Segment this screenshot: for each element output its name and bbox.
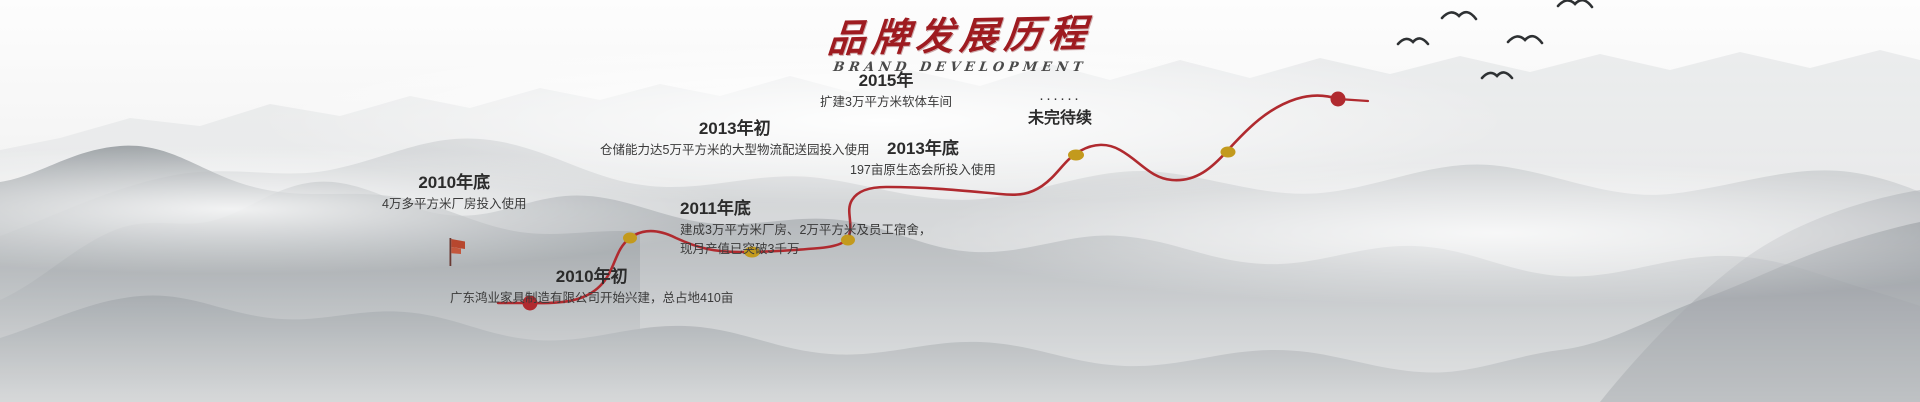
timeline-marker-2011-late[interactable] — [744, 247, 760, 258]
timeline-marker-2010-early[interactable] — [523, 296, 538, 311]
brand-development-timeline-banner: 品牌发展历程 BRAND DEVELOPMENT 2010年初 广东鸿业家具制造… — [0, 0, 1920, 402]
timeline-marker-2013-late[interactable] — [1068, 150, 1084, 161]
timeline-curve — [530, 96, 1338, 304]
timeline-marker-end[interactable] — [1331, 92, 1346, 107]
timeline-marker-2015[interactable] — [1221, 147, 1236, 158]
flag-icon — [434, 236, 468, 268]
timeline-path-graphic — [0, 0, 1920, 402]
timeline-marker-2013-early[interactable] — [841, 235, 855, 246]
timeline-marker-2010-late[interactable] — [623, 233, 637, 244]
